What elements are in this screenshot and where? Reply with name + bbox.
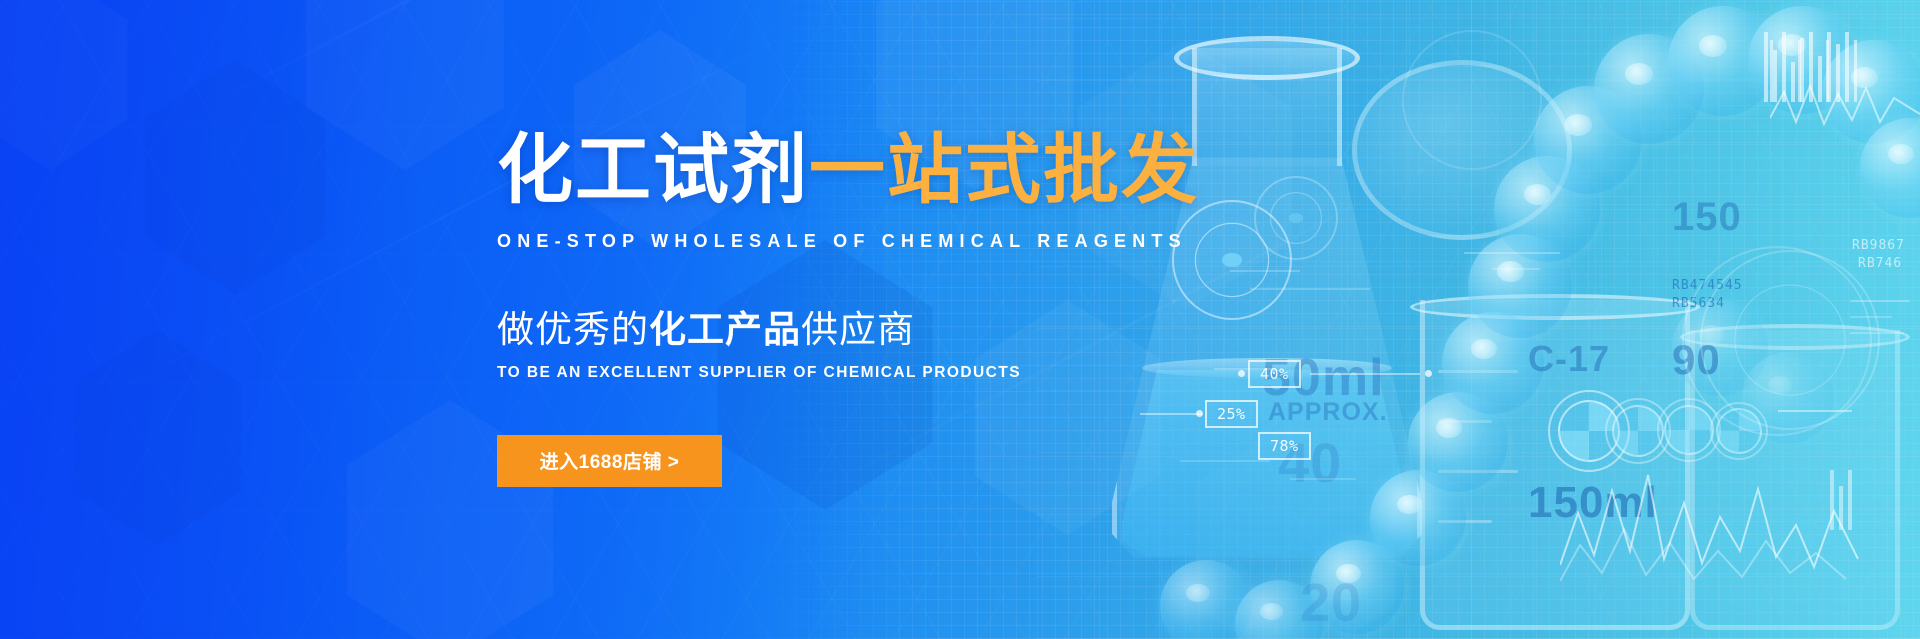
beaker-graduation [1438,520,1492,523]
enter-1688-shop-button[interactable]: 进入1688店铺 > [497,435,722,487]
beaker-graduation [1438,370,1518,373]
glass-beaker-icon [1420,300,1690,630]
page-title: 化工试剂一站式批发 [497,133,1199,209]
glass-beaker-icon [1690,330,1900,630]
beaker-body [1420,300,1690,630]
tagline: 做优秀的化工产品供应商 [497,310,1199,351]
headline-subtitle-en: ONE-STOP WHOLESALE OF CHEMICAL REAGENTS [497,231,1199,252]
tagline-subtitle-en: TO BE AN EXCELLENT SUPPLIER OF CHEMICAL … [497,364,1199,382]
beaker-lip [1680,324,1910,350]
beaker-graduation [1438,470,1518,473]
tagline-lead: 做优秀的 [497,309,649,350]
tagline-strong: 化工产品 [649,309,801,350]
copy-block: 化工试剂一站式批发 ONE-STOP WHOLESALE OF CHEMICAL… [497,0,1199,639]
beaker-graduation [1438,420,1492,423]
page-title-primary: 化工试剂 [497,133,809,209]
hero-banner: 50ml APPROX. 40 20 40% 25% 78% 150ml 90 … [0,0,1920,639]
beaker-lip [1410,294,1700,320]
flask-rim [1174,36,1360,80]
beaker-body [1690,330,1900,630]
page-title-accent: 一站式批发 [809,133,1199,209]
tagline-tail: 供应商 [801,309,915,350]
